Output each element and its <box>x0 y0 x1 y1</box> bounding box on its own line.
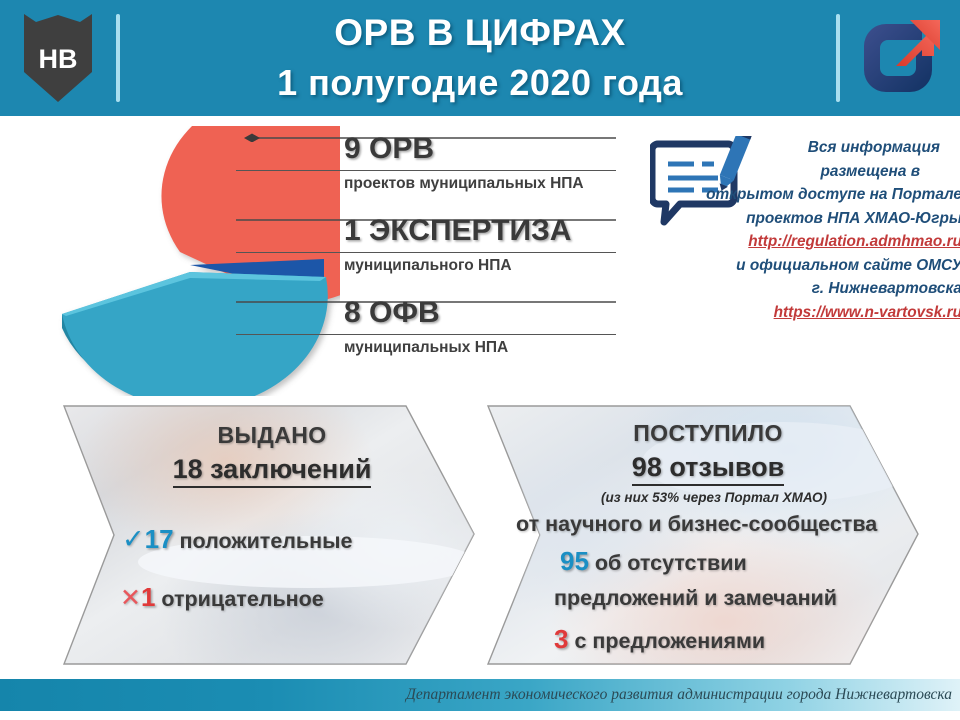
footer-bar: Департамент экономического развития адми… <box>0 679 960 711</box>
panel-received-count-text: 98 отзывов <box>632 452 784 486</box>
callout-value-2: 8 ОФВ <box>344 296 440 330</box>
callout-value-1: 1 ЭКСПЕРТИЗА <box>344 214 571 248</box>
panel-issued-row-0-label: положительные <box>174 529 353 553</box>
regulation-arrow-logo <box>852 8 952 108</box>
callout-rule-0 <box>236 170 616 171</box>
panel-received-count: 98 отзывов <box>498 452 918 483</box>
info-line-5: и официальном сайте ОМСУ <box>650 254 960 278</box>
callout-caption-1: муниципального НПА <box>344 256 512 276</box>
panel-issued-content: ВЫДАНО 18 заключений ✓17 положительные ✕… <box>58 402 478 670</box>
panel-received-row-1-label: предложений и замечаний <box>554 586 837 610</box>
panel-received-row-2-label: с предложениями <box>568 629 765 653</box>
panel-issued-count: 18 заключений <box>72 454 472 485</box>
panel-received-row-2: 3 с предложениями <box>554 624 765 655</box>
nizhnevartovsk-shield-logo: НВ <box>22 10 94 106</box>
panel-issued-row-0-number: 17 <box>145 524 174 554</box>
panel-received-note: (из них 53% через Портал ХМАО) <box>504 490 924 505</box>
callout-rule-2 <box>236 334 616 335</box>
panel-received-row-0-label: об отсутствии <box>589 551 747 575</box>
panel-received-row-0-number: 95 <box>560 546 589 576</box>
panel-received: ПОСТУПИЛО 98 отзывов (из них 53% через П… <box>482 402 922 670</box>
panel-received-content: ПОСТУПИЛО 98 отзывов (из них 53% через П… <box>482 402 922 670</box>
callout-leader-line-0 <box>236 132 636 142</box>
header-bar: НВ ОРВ В ЦИФРАХ 1 полугодие 2020 года <box>0 0 960 116</box>
slide-root: НВ ОРВ В ЦИФРАХ 1 полугодие 2020 года <box>0 0 960 720</box>
title-line-2: 1 полугодие 2020 года <box>277 58 683 108</box>
panel-received-row-2-number: 3 <box>554 624 568 654</box>
callout-caption-0: проектов муниципальных НПА <box>344 174 584 194</box>
info-box-text: Вся информация размещена в открытом дост… <box>650 136 960 324</box>
info-line-2: размещена в <box>650 160 960 184</box>
callout-value-0: 9 ОРВ <box>344 132 434 166</box>
shield-logo-text: НВ <box>39 44 78 74</box>
panel-received-row-1: предложений и замечаний <box>554 586 837 611</box>
info-line-6: г. Нижневартовска <box>650 277 960 301</box>
panel-issued-row-1: ✕1 отрицательное <box>120 582 324 613</box>
panel-issued: ВЫДАНО 18 заключений ✓17 положительные ✕… <box>58 402 478 670</box>
callout-rule-1 <box>236 252 616 253</box>
header-divider-left <box>116 14 120 102</box>
page-title: ОРВ В ЦИФРАХ 1 полугодие 2020 года <box>130 6 830 110</box>
info-line-1: Вся информация <box>650 136 960 160</box>
callout-caption-2: муниципальных НПА <box>344 338 508 358</box>
panel-issued-title: ВЫДАНО <box>72 422 472 449</box>
panel-issued-count-text: 18 заключений <box>173 454 372 488</box>
pie-callout-labels: 9 ОРВ проектов муниципальных НПА 1 ЭКСПЕ… <box>236 132 636 377</box>
panel-received-subtitle: от научного и бизнес-сообщества <box>516 512 877 537</box>
info-url-nvartovsk[interactable]: https://www.n-vartovsk.ru <box>650 301 960 325</box>
info-line-3: открытом доступе на Портале <box>650 183 960 207</box>
panel-issued-row-1-number: 1 <box>141 582 155 612</box>
header-divider-right <box>836 14 840 102</box>
cross-icon: ✕ <box>120 584 141 612</box>
footer-text: Департамент экономического развития адми… <box>406 679 952 711</box>
title-line-1: ОРВ В ЦИФРАХ <box>334 8 626 58</box>
info-box: Вся информация размещена в открытом дост… <box>650 136 960 368</box>
panel-received-row-0: 95 об отсутствии <box>560 546 747 577</box>
panel-issued-row-0: ✓17 положительные <box>122 524 352 555</box>
info-line-4: проектов НПА ХМАО-Югры <box>650 207 960 231</box>
panel-issued-row-1-label: отрицательное <box>155 587 323 611</box>
info-url-regulation[interactable]: http://regulation.admhmao.ru <box>650 230 960 254</box>
check-icon: ✓ <box>122 524 145 554</box>
panel-received-title: ПОСТУПИЛО <box>498 420 918 447</box>
